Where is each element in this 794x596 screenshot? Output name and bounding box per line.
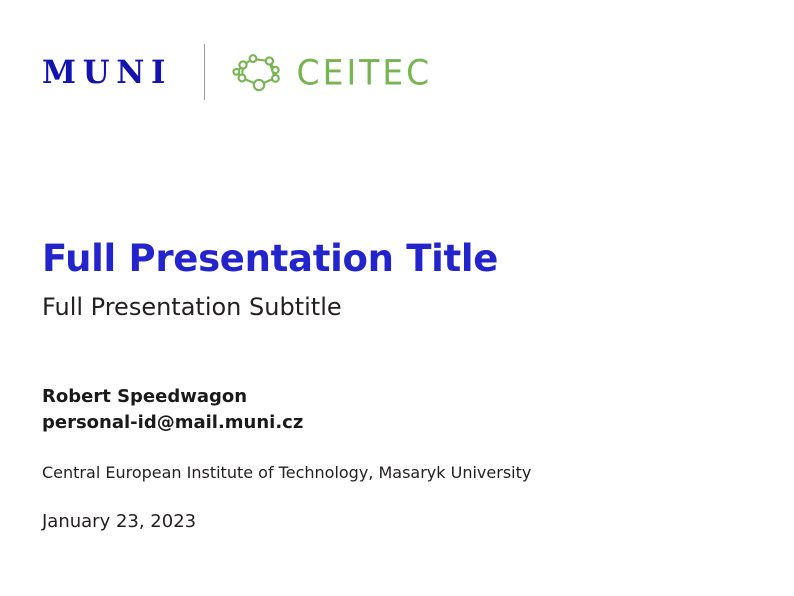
author-email: personal-id@mail.muni.cz xyxy=(42,410,742,436)
slide-content: Full Presentation Title Full Presentatio… xyxy=(42,238,742,534)
author-name: Robert Speedwagon xyxy=(42,384,742,410)
ceitec-molecule-icon xyxy=(231,52,285,92)
logo-bar: MUNI xyxy=(42,44,432,100)
logo-divider xyxy=(204,44,205,100)
presentation-slide: MUNI xyxy=(0,0,794,596)
muni-wordmark-logo: MUNI xyxy=(42,56,174,88)
page-title: Full Presentation Title xyxy=(42,238,742,279)
ceitec-logo: CEITEC xyxy=(231,44,433,100)
muni-logo: MUNI xyxy=(42,44,180,100)
affiliation: Central European Institute of Technology… xyxy=(42,463,742,484)
ceitec-wordmark: CEITEC xyxy=(297,55,433,90)
page-subtitle: Full Presentation Subtitle xyxy=(42,293,742,322)
author-block: Robert Speedwagon personal-id@mail.muni.… xyxy=(42,384,742,435)
presentation-date: January 23, 2023 xyxy=(42,510,742,533)
